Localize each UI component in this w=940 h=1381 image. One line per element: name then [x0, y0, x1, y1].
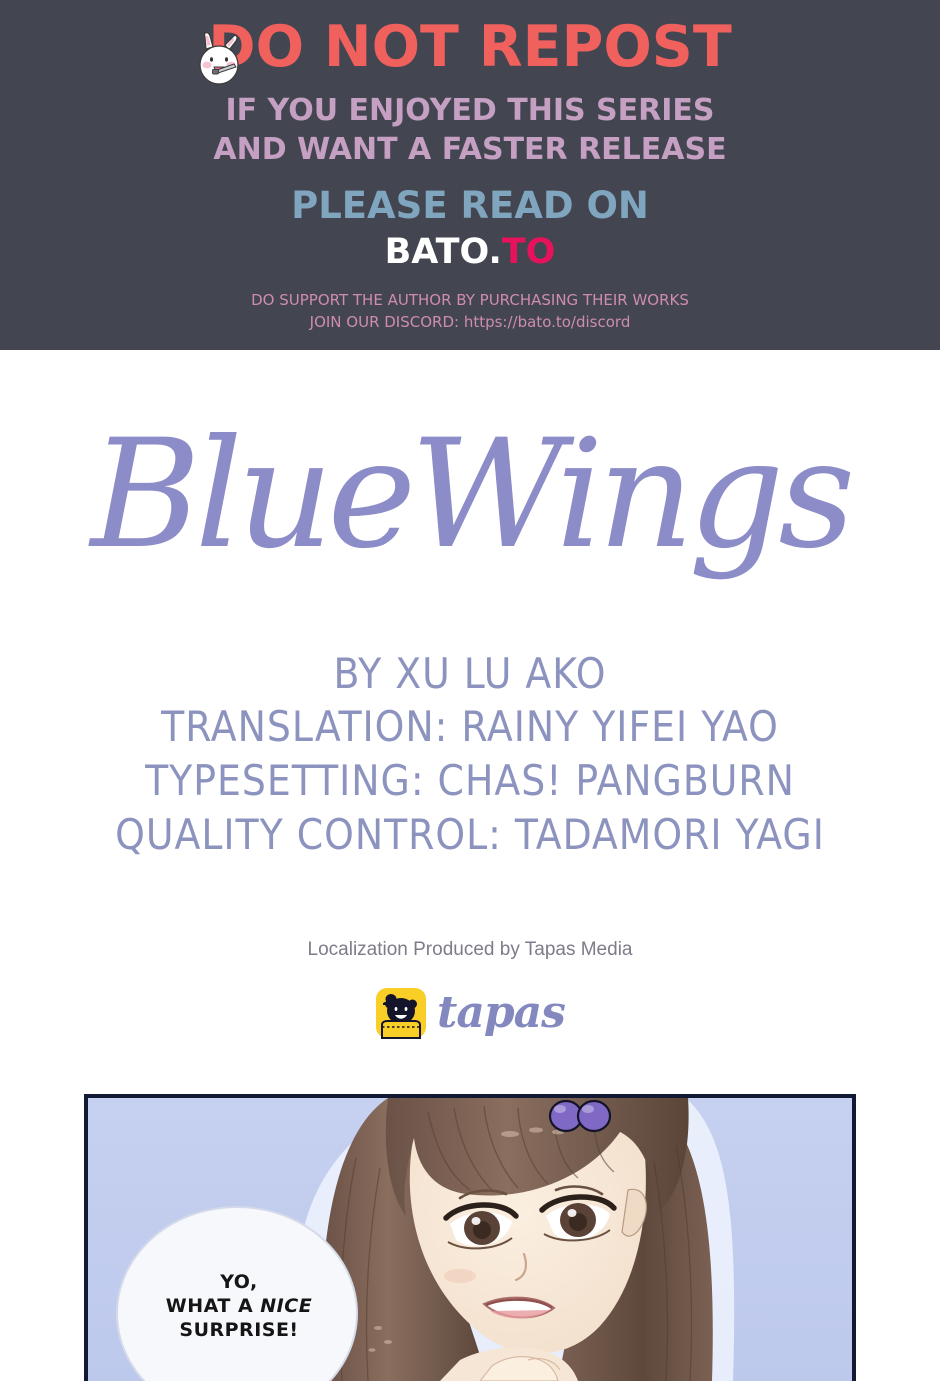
comic-page: DO NOT REPOST IF YOU ENJOYED THIS SERIES… [0, 0, 940, 1381]
banner-subline-1: IF YOU ENJOYED THIS SERIES [0, 92, 940, 129]
banner-headline-row: DO NOT REPOST [0, 12, 940, 84]
speech-line-2: WHAT A NICE [118, 1294, 360, 1318]
tapas-logo[interactable]: tapas [0, 984, 940, 1042]
bato-brand-name: BATO [385, 232, 489, 272]
bato-brand-logo[interactable]: BATO.TO [0, 231, 940, 273]
do-not-repost-banner: DO NOT REPOST IF YOU ENJOYED THIS SERIES… [0, 0, 940, 350]
speech-line-2-emphasis: NICE [260, 1295, 312, 1317]
banner-discord-link[interactable]: JOIN OUR DISCORD: https://bato.to/discor… [0, 312, 940, 332]
tapas-wordmark: tapas [437, 987, 565, 1039]
credit-author: BY XU LU AKO [0, 648, 940, 700]
speech-line-2-plain: WHAT A [166, 1295, 260, 1317]
series-title: BlueWings [91, 408, 850, 582]
banner-headline: DO NOT REPOST [208, 12, 732, 82]
tapas-bear-icon [375, 987, 427, 1039]
credit-translation: TRANSLATION: RAINY YIFEI YAO [0, 700, 940, 754]
credit-typesetting: TYPESETTING: CHAS! PANGBURN [0, 754, 940, 808]
banner-support-note: DO SUPPORT THE AUTHOR BY PURCHASING THEI… [0, 290, 940, 310]
series-title-block: BlueWings [0, 370, 940, 660]
banner-cta: PLEASE READ ON [0, 184, 940, 228]
localization-note: Localization Produced by Tapas Media [0, 938, 940, 962]
bunny-with-knife-icon [196, 31, 243, 87]
speech-bubble-text: YO, WHAT A NICE SURPRISE! [118, 1270, 360, 1342]
bato-brand-dot: . [488, 232, 501, 272]
credits-block: BY XU LU AKO TRANSLATION: RAINY YIFEI YA… [0, 648, 940, 862]
credit-quality-control: QUALITY CONTROL: TADAMORI YAGI [0, 808, 940, 862]
speech-line-1: YO, [118, 1270, 360, 1294]
speech-line-3: SURPRISE! [118, 1318, 360, 1342]
bato-brand-tld: TO [502, 232, 556, 272]
banner-subline-2: AND WANT A FASTER RELEASE [0, 131, 940, 168]
comic-panel: YO, WHAT A NICE SURPRISE! [84, 1094, 856, 1381]
